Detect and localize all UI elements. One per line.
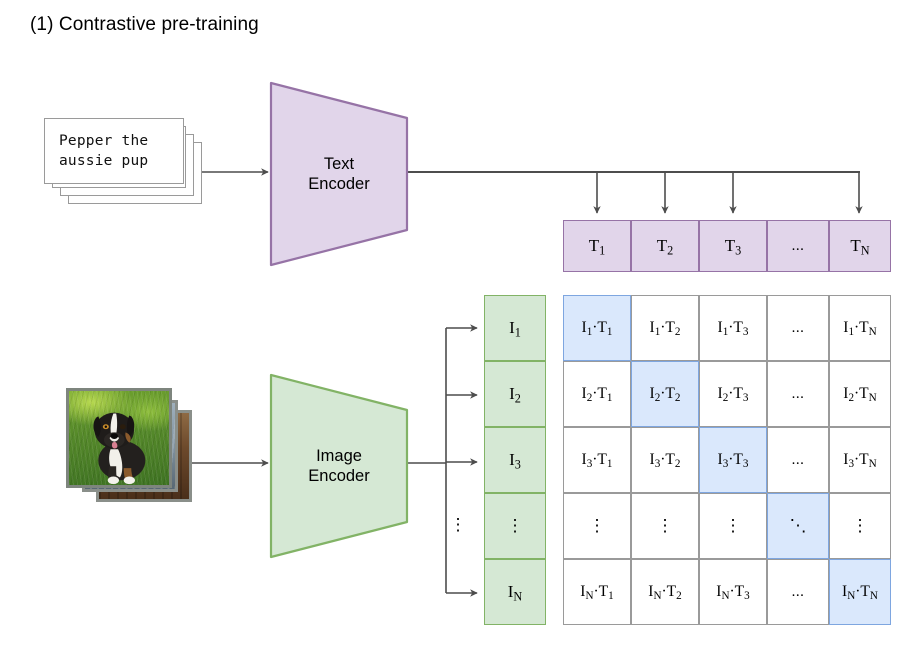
i-cell-1[interactable]: I1 bbox=[484, 295, 546, 361]
i-cell-2-label: I2 bbox=[509, 384, 521, 404]
matrix-cell-1-1-label: I1·T1 bbox=[582, 319, 613, 337]
i-cell-ellipsis: ⋮ bbox=[484, 493, 546, 559]
image-encoder[interactable]: Image Encoder bbox=[268, 372, 410, 560]
i-cell-n[interactable]: IN bbox=[484, 559, 546, 625]
t-cell-2[interactable]: T2 bbox=[631, 220, 699, 272]
matrix-cell-1-2-label: I1·T2 bbox=[650, 319, 681, 337]
matrix-cell-n-2[interactable]: IN·T2 bbox=[631, 559, 699, 625]
matrix-cell-2-n[interactable]: I2·TN bbox=[829, 361, 891, 427]
matrix-cell-3-3[interactable]: I3·T3 bbox=[699, 427, 767, 493]
matrix-cell-n-3-label: IN·T3 bbox=[716, 583, 749, 601]
matrix-cell-2-3[interactable]: I2·T3 bbox=[699, 361, 767, 427]
matrix-cell-2-2[interactable]: I2·T2 bbox=[631, 361, 699, 427]
matrix-cell-3-2[interactable]: I3·T2 bbox=[631, 427, 699, 493]
matrix-cell-n-3[interactable]: IN·T3 bbox=[699, 559, 767, 625]
matrix-cell-2-1-label: I2·T1 bbox=[582, 385, 613, 403]
matrix-cell-3-n[interactable]: I3·TN bbox=[829, 427, 891, 493]
puppy-illustration bbox=[69, 391, 169, 485]
matrix-cell-1-2[interactable]: I1·T2 bbox=[631, 295, 699, 361]
matrix-cell-3-2-label: I3·T2 bbox=[650, 451, 681, 469]
t-cell-ellipsis: ... bbox=[767, 220, 829, 272]
matrix-cell-4-1: ⋮ bbox=[563, 493, 631, 559]
i-cell-n-label: IN bbox=[508, 582, 523, 602]
matrix-cell-4-2-label: ⋮ bbox=[657, 516, 674, 536]
i-cell-2[interactable]: I2 bbox=[484, 361, 546, 427]
i-cell-1-label: I1 bbox=[509, 318, 521, 338]
matrix-cell-1-n-label: I1·TN bbox=[843, 319, 876, 337]
i-cell-ellipsis-label: ⋮ bbox=[507, 516, 524, 536]
matrix-cell-2-ellipsis: ... bbox=[767, 361, 829, 427]
matrix-cell-1-n[interactable]: I1·TN bbox=[829, 295, 891, 361]
matrix-cell-3-ellipsis-label: ... bbox=[792, 452, 805, 469]
t-cell-n[interactable]: TN bbox=[829, 220, 891, 272]
text-caption: Pepper the aussie pup bbox=[59, 131, 148, 171]
matrix-cell-n-ellipsis: ... bbox=[767, 559, 829, 625]
matrix-cell-4-n: ⋮ bbox=[829, 493, 891, 559]
matrix-cell-4-2: ⋮ bbox=[631, 493, 699, 559]
text-encoder[interactable]: Text Encoder bbox=[268, 80, 410, 268]
text-encoder-label: Text Encoder bbox=[308, 154, 369, 194]
text-card-front[interactable]: Pepper the aussie pup bbox=[44, 118, 184, 184]
text-input-stack[interactable]: Pepper the aussie pup bbox=[44, 118, 204, 228]
t-cell-n-label: TN bbox=[850, 236, 869, 256]
matrix-cell-2-n-label: I2·TN bbox=[843, 385, 876, 403]
matrix-cell-4-3-label: ⋮ bbox=[725, 516, 742, 536]
matrix-cell-2-3-label: I2·T3 bbox=[718, 385, 749, 403]
matrix-cell-4-n-label: ⋮ bbox=[852, 516, 869, 536]
matrix-cell-n-1[interactable]: IN·T1 bbox=[563, 559, 631, 625]
matrix-cell-n-n[interactable]: IN·TN bbox=[829, 559, 891, 625]
matrix-cell-4-1-label: ⋮ bbox=[589, 516, 606, 536]
matrix-cell-3-1-label: I3·T1 bbox=[582, 451, 613, 469]
t-cell-3-label: T3 bbox=[725, 236, 742, 256]
t-cell-3[interactable]: T3 bbox=[699, 220, 767, 272]
i-cell-3[interactable]: I3 bbox=[484, 427, 546, 493]
t-cell-ellipsis-label: ... bbox=[792, 238, 805, 255]
image-branch-ellipsis-label: ⋮ bbox=[450, 515, 467, 535]
image-input-stack[interactable] bbox=[66, 388, 196, 498]
image-encoder-label: Image Encoder bbox=[308, 446, 369, 486]
matrix-cell-n-ellipsis-label: ... bbox=[792, 584, 805, 601]
matrix-cell-4-3: ⋮ bbox=[699, 493, 767, 559]
matrix-cell-2-1[interactable]: I2·T1 bbox=[563, 361, 631, 427]
matrix-cell-3-n-label: I3·TN bbox=[843, 451, 876, 469]
matrix-cell-n-n-label: IN·TN bbox=[842, 583, 878, 601]
page-title: (1) Contrastive pre-training bbox=[30, 14, 259, 36]
matrix-cell-3-ellipsis: ... bbox=[767, 427, 829, 493]
matrix-cell-3-3-label: I3·T3 bbox=[718, 451, 749, 469]
image-branch-ellipsis: ⋮ bbox=[448, 505, 468, 545]
matrix-cell-4-diagonal-label: ⋱ bbox=[790, 516, 807, 536]
diagram-canvas: (1) Contrastive pre-training bbox=[0, 0, 906, 654]
matrix-cell-n-1-label: IN·T1 bbox=[580, 583, 613, 601]
image-card-front[interactable] bbox=[66, 388, 172, 488]
matrix-cell-3-1[interactable]: I3·T1 bbox=[563, 427, 631, 493]
matrix-cell-1-3[interactable]: I1·T3 bbox=[699, 295, 767, 361]
matrix-cell-2-2-label: I2·T2 bbox=[650, 385, 681, 403]
matrix-cell-1-1[interactable]: I1·T1 bbox=[563, 295, 631, 361]
matrix-cell-1-3-label: I1·T3 bbox=[718, 319, 749, 337]
matrix-cell-1-ellipsis: ... bbox=[767, 295, 829, 361]
t-cell-1-label: T1 bbox=[589, 236, 606, 256]
t-cell-2-label: T2 bbox=[657, 236, 674, 256]
matrix-cell-n-2-label: IN·T2 bbox=[648, 583, 681, 601]
matrix-cell-1-ellipsis-label: ... bbox=[792, 320, 805, 337]
matrix-cell-2-ellipsis-label: ... bbox=[792, 386, 805, 403]
i-cell-3-label: I3 bbox=[509, 450, 521, 470]
t-cell-1[interactable]: T1 bbox=[563, 220, 631, 272]
matrix-cell-4-diagonal: ⋱ bbox=[767, 493, 829, 559]
